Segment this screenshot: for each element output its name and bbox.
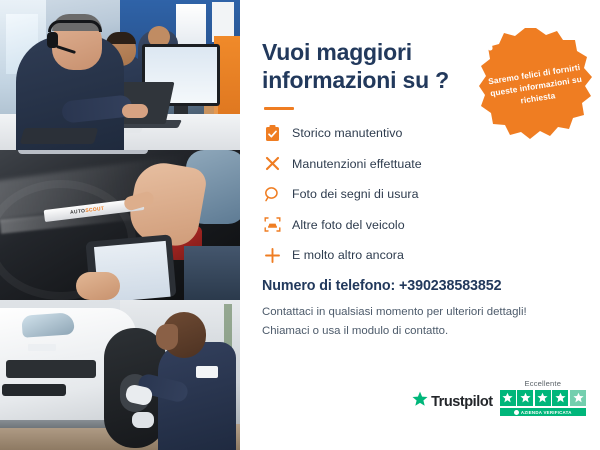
page-title: Vuoi maggiori informazioni su ? [262,38,492,94]
trustpilot-widget[interactable]: Trustpilot Eccellente [412,379,586,417]
photo3-grille [6,360,96,378]
photo1-headset-band [48,20,102,32]
magnifier-icon [262,184,282,204]
star-filled-icon [535,390,551,406]
list-item: Manutenzioni effettuate [262,154,578,174]
list-item-label: Foto dei segni di usura [292,187,419,201]
photo3-glove-2 [132,412,154,428]
car-frame-icon [262,215,282,235]
photo2-background-panel [184,246,240,300]
list-item-label: E molto altro ancora [292,248,404,262]
title-divider [264,107,294,110]
contact-subtext: Contattaci in qualsiasi momento per ulte… [262,303,578,340]
mechanic-wheel-photo [0,300,240,450]
verified-business-label: AZIENDA VERIFICATA [521,410,572,415]
star-filled-icon [500,390,516,406]
list-item-label: Altre foto del veicolo [292,218,405,232]
trustpilot-stars [500,390,586,406]
list-item: Foto dei segni di usura [262,184,578,204]
photo-column: AUTOSCOUT [0,0,240,450]
promo-banner: AUTOSCOUT Vuoi [0,0,600,450]
photo3-badge [28,344,56,351]
verified-business-badge: AZIENDA VERIFICATA [500,408,586,416]
photo3-shirt-logo [196,366,218,378]
photo3-headlight [21,312,74,338]
contact-subtext-line-2: Chiamaci o usa il modulo di contatto. [262,322,578,340]
status-badge: Saremo felici di fornirti queste informa… [478,26,594,146]
plus-icon [262,245,282,265]
status-badge-label: Saremo felici di fornirti queste informa… [486,62,586,112]
star-partial-icon [570,390,586,406]
photo2-roof-edge [18,150,148,154]
star-filled-icon [552,390,568,406]
list-item-label: Storico manutentivo [292,126,402,140]
photo1-agent-1-hand [122,104,148,118]
photo2-hand-2 [76,272,120,300]
list-item: E molto altro ancora [262,245,578,265]
clipboard-check-icon [262,123,282,143]
car-inspection-ruler-photo: AUTOSCOUT [0,150,240,300]
contact-subtext-line-1: Contattaci in qualsiasi momento per ulte… [262,303,578,321]
trustpilot-logo: Trustpilot [412,391,493,416]
info-panel: Vuoi maggiori informazioni su ? Storico … [240,0,600,450]
photo3-lower-grille [2,384,66,396]
list-item-label: Manutenzioni effettuate [292,157,422,171]
check-circle-icon [514,410,519,415]
photo3-mechanic-face [156,324,178,350]
trustpilot-name: Trustpilot [431,394,493,410]
list-item: Altre foto del veicolo [262,215,578,235]
phone-number: Numero di telefono: +390238583852 [262,278,578,294]
trustpilot-star-icon [412,391,428,412]
star-filled-icon [517,390,533,406]
wrench-cross-icon [262,154,282,174]
trustpilot-rating-label: Eccellente [525,379,562,388]
photo1-tablet [20,128,99,144]
trustpilot-rating: Eccellente [500,379,586,417]
call-center-agents-photo [0,0,240,150]
